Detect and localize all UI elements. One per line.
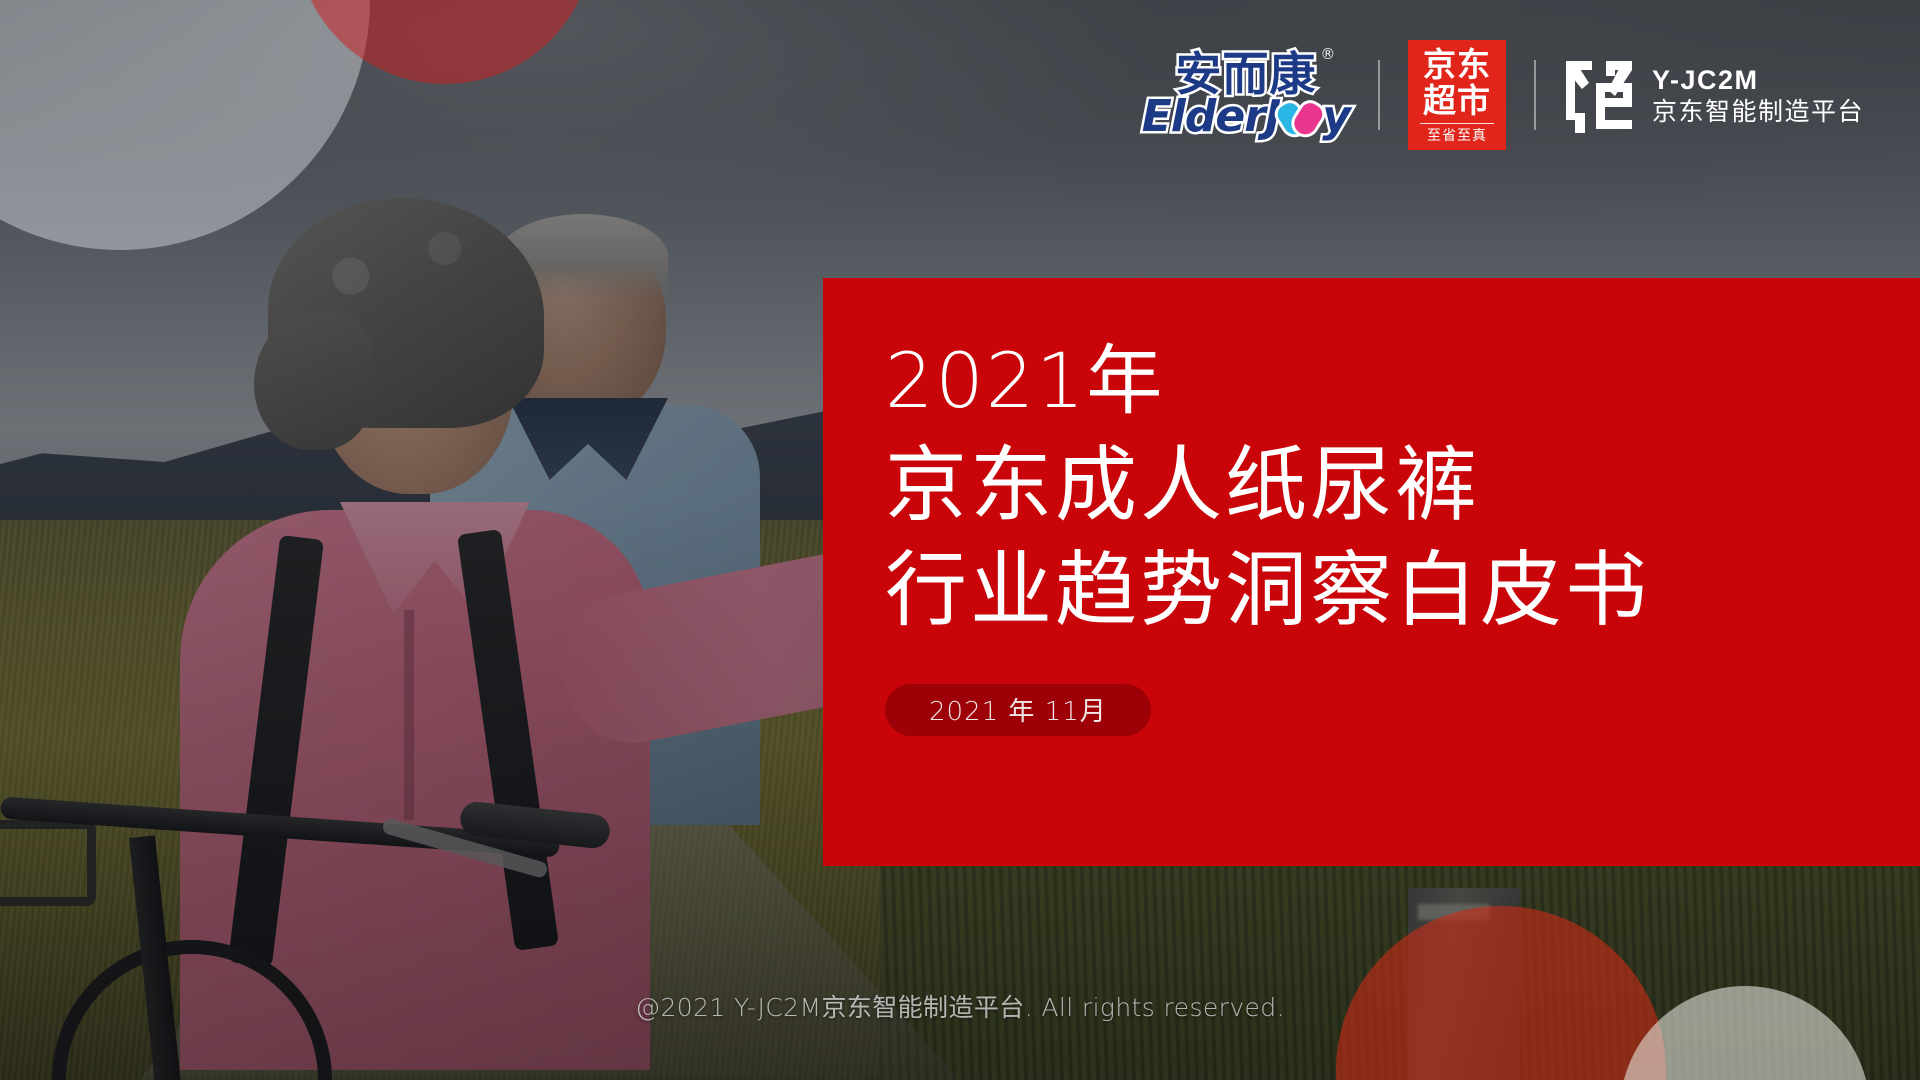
registered-trademark-icon: ® xyxy=(1320,47,1336,62)
yjc2m-monogram-icon xyxy=(1564,57,1634,133)
jd-supermarket-line1: 京东 xyxy=(1423,48,1491,81)
title-main-line: 京东成人纸尿裤 xyxy=(885,434,1920,539)
logo-divider-1 xyxy=(1378,60,1380,130)
title-panel: 2021年 京东成人纸尿裤 行业趋势洞察白皮书 2021 年 11月 xyxy=(823,278,1920,866)
footer-copyright: @2021 Y-JC2M京东智能制造平台. All rights reserve… xyxy=(0,988,1920,1024)
date-badge: 2021 年 11月 xyxy=(885,684,1151,736)
elderjoy-english-right: y xyxy=(1322,95,1350,139)
logo-divider-2 xyxy=(1534,60,1536,130)
y-jc2m-chinese: 京东智能制造平台 xyxy=(1652,99,1864,124)
jd-supermarket-logo: 京东 超市 至省至真 xyxy=(1408,40,1506,150)
y-jc2m-english: Y-JC2M xyxy=(1652,67,1864,94)
elderjoy-english-name: Elder J y xyxy=(1142,95,1350,139)
jd-supermarket-tagline: 至省至真 xyxy=(1420,123,1494,143)
title-slide: 安而康 ® Elder J y 京东 超市 至省至真 xyxy=(0,0,1920,1080)
title-sub-line: 行业趋势洞察白皮书 xyxy=(885,539,1920,644)
jd-supermarket-line2: 超市 xyxy=(1423,84,1491,117)
heart-icon xyxy=(1281,99,1321,135)
elderjoy-logo: 安而康 ® Elder J y xyxy=(1142,51,1350,139)
title-year: 2021年 xyxy=(885,340,1920,422)
header-logo-bar: 安而康 ® Elder J y 京东 超市 至省至真 xyxy=(1142,40,1864,150)
elderjoy-english-left: Elder xyxy=(1142,95,1265,139)
y-jc2m-text: Y-JC2M 京东智能制造平台 xyxy=(1652,67,1864,124)
y-jc2m-logo: Y-JC2M 京东智能制造平台 xyxy=(1564,57,1864,133)
